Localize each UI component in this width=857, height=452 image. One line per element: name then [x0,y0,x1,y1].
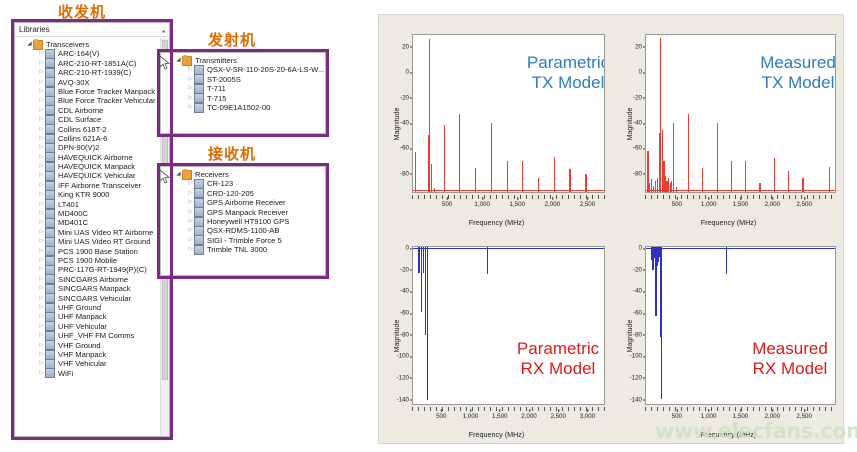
y-axis-ticks: 0-20-40-60-80-100-120-140 [623,246,645,405]
chevron-right-icon[interactable]: ▷ [38,125,45,134]
tree-item[interactable]: ▷UHF Vehicular [15,322,160,331]
tree-root-receivers[interactable]: ◢Receivers [161,170,325,179]
tree-item[interactable]: ▷ARC-210-RT-1939(C) [15,68,160,77]
chevron-down-icon[interactable]: ◢ [26,40,33,49]
libraries-tree-scroll-viewport: ◢Transceivers▷ARC-164(V)▷ARC-210-RT-1851… [15,38,160,436]
y-tick-label: 0 [406,69,409,76]
folder-icon [182,56,192,66]
plot-area: Parametric TX Model [412,34,605,193]
y-tick-label: -40 [400,288,409,295]
chevron-right-icon[interactable]: ▷ [38,312,45,321]
spectral-line [774,158,775,192]
y-tick-label: -80 [400,331,409,338]
chevron-right-icon[interactable]: ▷ [38,322,45,331]
chevron-right-icon[interactable]: ▷ [38,369,45,378]
spectral-line [459,114,460,192]
y-axis-ticks: 200-20-40-60-80 [623,34,645,193]
spectral-line [429,39,430,192]
device-icon [45,218,55,228]
receivers-panel: ◢Receivers▷CR-123▷CRD-120-205▷GPS Airbor… [160,166,326,276]
tree-item-label: PCS 1900 Base Station [58,247,138,256]
tree-item[interactable]: ▷PRC-117G-RT-1949(P)(C) [15,265,160,274]
spectral-line [491,123,492,192]
tree-item[interactable]: ▷PCS 1900 Mobile [15,256,160,265]
tree-item[interactable]: ▷HAVEQUICK Manpack [15,162,160,171]
spectral-line [661,247,662,399]
tree-item[interactable]: ▷WiFi [15,369,160,378]
tree-item[interactable]: ▷Trimble TNL 3000 [161,245,325,254]
tree-item[interactable]: ▷King KTR 9000 [15,190,160,199]
chevron-right-icon[interactable]: ▷ [38,134,45,143]
tree-item[interactable]: ▷SIGI - Trimble Force 5 [161,236,325,245]
spectral-line [829,167,830,192]
device-icon [45,321,55,331]
tree-item-label: CDL Surface [58,115,101,124]
y-tick-label: -60 [400,310,409,317]
tree-root-label: Transmitters [195,56,237,65]
spectral-line [759,183,760,192]
x-tick-label: 1,000 [701,201,716,208]
chevron-right-icon[interactable]: ▷ [38,247,45,256]
tree-item-label: UHF Manpack [58,312,107,321]
spectral-line [427,247,428,400]
chevron-right-icon[interactable]: ▷ [38,265,45,274]
chevron-right-icon[interactable]: ▷ [187,226,194,235]
tree-item-label: GPS Airborne Receiver [207,198,286,207]
spectral-line [507,161,508,192]
device-icon [194,245,204,255]
tree-item-label: Collins 618T-2 [58,125,107,134]
spectral-line [538,178,539,192]
device-icon [45,152,55,162]
chevron-right-icon[interactable]: ▷ [38,200,45,209]
x-tick-label: 1,000 [474,201,489,208]
chevron-right-icon[interactable]: ▷ [187,75,194,84]
baseline [413,248,604,249]
x-tick-label: 500 [442,201,452,208]
chart-measured-rx: Magnitude0-20-40-60-80-100-120-140Measur… [613,228,844,443]
chevron-right-icon[interactable]: ▷ [38,350,45,359]
chevron-right-icon[interactable]: ▷ [38,190,45,199]
device-icon [194,207,204,217]
tree-item[interactable]: ▷CRD-120-205 [161,189,325,198]
chevron-right-icon[interactable]: ▷ [38,256,45,265]
tree-item-label: CDL Airborne [58,106,103,115]
device-icon [45,124,55,134]
spectral-line [522,161,523,192]
y-tick-label: -60 [633,145,642,152]
libraries-window: Libraries ▪ ◢Transceivers▷ARC-164(V)▷ARC… [14,22,170,437]
x-tick-label: 1,500 [492,413,507,420]
spectral-line [788,171,789,192]
tree-item[interactable]: ▷HAVEQUICK Airborne [15,153,160,162]
tree-item[interactable]: ▷Collins 618T-2 [15,125,160,134]
chevron-right-icon[interactable]: ▷ [38,303,45,312]
chart-measured-tx: Magnitude200-20-40-60-80Measured TX Mode… [613,16,844,231]
x-tick-label: 2,000 [765,201,780,208]
tree-item-label: PRC-117G-RT-1949(P)(C) [58,265,147,274]
chevron-right-icon[interactable]: ▷ [187,236,194,245]
tree-item[interactable]: ▷T-715 [161,94,325,103]
chart-title: Measured TX Model [732,53,836,93]
chevron-right-icon[interactable]: ▷ [38,143,45,152]
x-axis-ticks: 5001,0001,5002,0002,5003,000 [412,409,605,423]
tree-item-label: Blue Force Tracker Manpack [58,87,155,96]
chevron-right-icon[interactable]: ▷ [38,96,45,105]
spectral-line [726,247,727,274]
chart-parametric-rx: Magnitude0-20-40-60-80-100-120-140Parame… [380,228,613,443]
chevron-right-icon[interactable]: ▷ [38,341,45,350]
y-tick-label: -20 [633,94,642,101]
tree-item[interactable]: ▷SINCGARS Manpack [15,284,160,293]
y-tick-label: -120 [630,374,642,381]
tree-item[interactable]: ▷ARC-210-RT-1851A(C) [15,59,160,68]
chevron-right-icon[interactable]: ▷ [38,78,45,87]
x-tick-label: 500 [672,201,682,208]
callout-label-transmitters: 发射机 [208,29,256,50]
chevron-right-icon[interactable]: ▷ [187,208,194,217]
plot-wrapper: Magnitude0-20-40-60-80-100-120-140Measur… [613,228,844,443]
tree-item[interactable]: ▷TC-09E1A1502-00 [161,103,325,112]
chevron-down-icon[interactable]: ◢ [175,170,182,179]
y-tick-label: 0 [639,69,642,76]
chevron-right-icon[interactable]: ▷ [187,103,194,112]
x-tick-label: 3,000 [580,413,595,420]
y-tick-label: -80 [633,170,642,177]
tree-item-label: UHF_VHF FM Comms [58,331,134,340]
tree-item[interactable]: ▷VHF Vehicular [15,359,160,368]
tree-item-label: King KTR 9000 [58,190,110,199]
spectral-line [731,161,732,192]
device-icon [45,105,55,115]
y-tick-label: -60 [400,145,409,152]
libraries-title: Libraries [19,25,50,34]
tree-item-label: SINCGARS Airborne [58,275,128,284]
x-tick-label: 500 [436,413,446,420]
spectral-line [475,168,476,192]
y-tick-label: -20 [400,266,409,273]
device-icon [45,58,55,68]
tree-item[interactable]: ▷VHF Ground [15,341,160,350]
spectral-line [745,161,746,192]
tree-item[interactable]: ▷Blue Force Tracker Manpack [15,87,160,96]
spectral-line [802,178,803,192]
y-tick-label: -100 [397,353,409,360]
transmitters-panel: ◢Transmitters▷QSX-V-SR-110-20S-20-6A-LS-… [160,52,326,134]
tree-item-label: UHF Vehicular [58,322,107,331]
spectral-line [434,188,435,192]
pin-icon[interactable]: ▪ [162,25,165,39]
x-tick-label: 2,500 [796,201,811,208]
x-axis-ticks: 5001,0001,5002,0002,500 [412,197,605,211]
chevron-right-icon[interactable]: ▷ [187,198,194,207]
y-tick-label: 0 [406,245,409,252]
tree-item-label: QSX-RDMS-1100-AB [207,226,279,235]
tree-item-label: PCS 1900 Mobile [58,256,117,265]
tree-item[interactable]: ▷CR-123 [161,179,325,188]
tree-item[interactable]: ▷T-711 [161,84,325,93]
spectral-line [688,114,689,192]
tree-item-label: SINCGARS Vehicular [58,294,131,303]
folder-icon [182,170,192,180]
x-axis-label: Frequency (MHz) [380,218,613,227]
tree-item[interactable]: ▷LT401 [15,200,160,209]
chevron-right-icon[interactable]: ▷ [38,237,45,246]
tree-root-label: Receivers [195,170,229,179]
tree-item[interactable]: ▷VHF Manpack [15,350,160,359]
spectral-line [702,168,703,192]
callout-label-transceivers: 收发机 [58,1,106,22]
spectral-line [487,247,488,274]
x-tick-label: 2,000 [545,201,560,208]
spectral-line [673,123,674,192]
tree-item-label: MD400C [58,209,88,218]
y-tick-label: -20 [400,94,409,101]
tree-root-transmitters[interactable]: ◢Transmitters [161,56,325,65]
device-icon [45,293,55,303]
tree-item-label: GPS Manpack Receiver [207,208,288,217]
spectral-line [676,187,677,192]
device-icon [45,246,55,256]
tree-item-label: QSX-V-SR-110-20S-20-6A-LS-W... [207,65,324,74]
chevron-right-icon[interactable]: ▷ [38,106,45,115]
y-tick-label: -140 [630,396,642,403]
y-tick-label: 20 [402,43,409,50]
tree-item-label: LT401 [58,200,79,209]
tree-item[interactable]: ▷ARC-164(V) [15,49,160,58]
tree-item-label: Mini UAS Video RT Airborne [58,228,153,237]
tree-item[interactable]: ▷IFF Airborne Transceiver [15,181,160,190]
tree-item-label: UHF Ground [58,303,101,312]
spectral-line [585,174,586,192]
tree-item-label: SINCGARS Manpack [58,284,131,293]
chevron-right-icon[interactable]: ▷ [187,94,194,103]
tree-item[interactable]: ▷SINCGARS Vehicular [15,294,160,303]
libraries-tree: ◢Transceivers▷ARC-164(V)▷ARC-210-RT-1851… [15,38,160,378]
tree-item-label: Blue Force Tracker Vehicular [58,96,156,105]
tree-item[interactable]: ▷DPN-90(V)2 [15,143,160,152]
chevron-right-icon[interactable]: ▷ [187,189,194,198]
tree-item[interactable]: ▷GPS Airborne Receiver [161,198,325,207]
tree-item-label: Honeywell HT9100 GPS [207,217,289,226]
device-icon [194,103,204,113]
tree-item[interactable]: ▷UHF_VHF FM Comms [15,331,160,340]
chevron-right-icon[interactable]: ▷ [38,218,45,227]
tree-item[interactable]: ▷QSX-RDMS-1100-AB [161,226,325,235]
tree-item[interactable]: ▷Collins 621A-6 [15,134,160,143]
tree-item-label: HAVEQUICK Vehicular [58,171,136,180]
tree-item-label: AVQ-30X [58,78,90,87]
tree-root-transceivers[interactable]: ◢Transceivers [15,40,160,49]
y-tick-label: -40 [633,288,642,295]
plot-wrapper: Magnitude0-20-40-60-80-100-120-140Parame… [380,228,613,443]
y-tick-label: -80 [400,170,409,177]
spectral-line [444,125,445,192]
x-tick-label: 2,500 [580,201,595,208]
device-icon [45,171,55,181]
y-tick-label: -40 [400,120,409,127]
baseline [646,248,835,249]
mouse-cursor-icon [160,170,171,184]
tree-item[interactable]: ▷MD400C [15,209,160,218]
tree-item-label: ARC-210-RT-1851A(C) [58,59,136,68]
tree-item[interactable]: ▷QSX-V-SR-110-20S-20-6A-LS-W... [161,65,325,74]
device-icon [45,199,55,209]
chevron-right-icon[interactable]: ▷ [38,59,45,68]
x-tick-label: 2,500 [550,413,565,420]
device-icon [194,235,204,245]
libraries-title-bar: Libraries ▪ [15,23,169,37]
spectral-line [554,157,555,192]
device-icon [194,188,204,198]
tree-item-label: ARC-210-RT-1939(C) [58,68,131,77]
chevron-right-icon[interactable]: ▷ [38,294,45,303]
tree-item[interactable]: ▷CDL Airborne [15,106,160,115]
y-tick-label: -140 [397,396,409,403]
x-tick-label: 1,000 [463,413,478,420]
chevron-right-icon[interactable]: ▷ [187,245,194,254]
chevron-right-icon[interactable]: ▷ [187,65,194,74]
tree-item-label: T-715 [207,94,226,103]
plot-area: Parametric RX Model [412,246,605,405]
tree-item[interactable]: ▷UHF Ground [15,303,160,312]
chevron-right-icon[interactable]: ▷ [38,228,45,237]
chart-title: Parametric RX Model [483,339,605,379]
chevron-right-icon[interactable]: ▷ [38,153,45,162]
folder-icon [33,40,43,50]
tree-item-label: VHF Manpack [58,350,106,359]
device-icon [45,274,55,284]
chevron-right-icon[interactable]: ▷ [38,162,45,171]
chevron-right-icon[interactable]: ▷ [38,87,45,96]
tree-item-label: VHF Ground [58,341,101,350]
device-icon [45,77,55,87]
tree-item-label: CR-123 [207,179,233,188]
x-tick-label: 1,500 [733,201,748,208]
x-axis-label: Frequency (MHz) [613,218,844,227]
receivers-tree: ◢Receivers▷CR-123▷CRD-120-205▷GPS Airbor… [161,167,325,255]
chevron-right-icon[interactable]: ▷ [38,181,45,190]
tree-item[interactable]: ▷Blue Force Tracker Vehicular [15,96,160,105]
y-axis-ticks: 0-20-40-60-80-100-120-140 [390,246,412,405]
y-tick-label: -120 [397,374,409,381]
tree-item[interactable]: ▷CDL Surface [15,115,160,124]
chevron-right-icon[interactable]: ▷ [38,331,45,340]
tree-item[interactable]: ▷SINCGARS Airborne [15,275,160,284]
tree-item-label: MD401C [58,218,88,227]
chevron-down-icon[interactable]: ◢ [175,56,182,65]
tree-item-label: HAVEQUICK Airborne [58,153,133,162]
baseline [413,190,604,191]
device-icon [45,340,55,350]
chart-title: Measured RX Model [714,339,836,379]
chevron-right-icon[interactable]: ▷ [187,179,194,188]
plot-area: Measured RX Model [645,246,836,405]
tree-item-label: WiFi [58,369,73,378]
device-icon [45,368,55,378]
chevron-right-icon[interactable]: ▷ [38,209,45,218]
tree-item[interactable]: ▷Mini UAS Video RT Ground [15,237,160,246]
chevron-right-icon[interactable]: ▷ [38,171,45,180]
tree-item[interactable]: ▷AVQ-30X [15,78,160,87]
plot-wrapper: Magnitude200-20-40-60-80Parametric TX Mo… [380,16,613,231]
tree-item[interactable]: ▷GPS Manpack Receiver [161,208,325,217]
screenshot-root: Libraries ▪ ◢Transceivers▷ARC-164(V)▷ARC… [0,0,857,452]
tree-item-label: ARC-164(V) [58,49,99,58]
tree-item[interactable]: ▷PCS 1900 Base Station [15,247,160,256]
chart-parametric-tx: Magnitude200-20-40-60-80Parametric TX Mo… [380,16,613,231]
chart-title: Parametric TX Model [503,53,605,93]
tree-item[interactable]: ▷MD401C [15,218,160,227]
x-axis-ticks: 5001,0001,5002,0002,500 [645,197,836,211]
tree-item[interactable]: ▷ST-2005S [161,75,325,84]
tree-item[interactable]: ▷Honeywell HT9100 GPS [161,217,325,226]
y-tick-label: 0 [639,245,642,252]
tree-item[interactable]: ▷UHF Manpack [15,312,160,321]
chevron-right-icon[interactable]: ▷ [187,217,194,226]
chevron-right-icon[interactable]: ▷ [38,359,45,368]
plot-area: Measured TX Model [645,34,836,193]
tree-item-label: Mini UAS Video RT Ground [58,237,150,246]
tree-item-label: SIGI - Trimble Force 5 [207,236,282,245]
device-icon [194,74,204,84]
chevron-right-icon[interactable]: ▷ [38,284,45,293]
mouse-cursor-icon [160,56,171,70]
y-tick-label: 20 [635,43,642,50]
spectral-line [717,123,718,192]
x-tick-label: 2,000 [521,413,536,420]
x-tick-label: 1,500 [510,201,525,208]
chevron-right-icon[interactable]: ▷ [38,68,45,77]
tree-item-label: CRD-120-205 [207,189,254,198]
spectral-line [569,169,570,192]
chevron-right-icon[interactable]: ▷ [187,84,194,93]
transmitters-tree: ◢Transmitters▷QSX-V-SR-110-20S-20-6A-LS-… [161,53,325,112]
y-tick-label: -60 [633,310,642,317]
tree-root-label: Transceivers [46,40,89,49]
x-axis-label: Frequency (MHz) [380,430,613,439]
y-tick-label: -20 [633,266,642,273]
spectral-line [421,247,422,312]
tree-item[interactable]: ▷HAVEQUICK Vehicular [15,171,160,180]
y-axis-ticks: 200-20-40-60-80 [390,34,412,193]
chevron-right-icon[interactable]: ▷ [38,49,45,58]
chevron-right-icon[interactable]: ▷ [38,275,45,284]
chevron-right-icon[interactable]: ▷ [38,115,45,124]
device-icon [194,93,204,103]
tree-item-label: T-711 [207,84,226,93]
y-tick-label: -80 [633,331,642,338]
callout-label-receivers: 接收机 [208,143,256,164]
tree-item-label: DPN-90(V)2 [58,143,99,152]
tree-item[interactable]: ▷Mini UAS Video RT Airborne [15,228,160,237]
y-tick-label: -40 [633,120,642,127]
tree-item-label: Trimble TNL 3000 [207,245,267,254]
tree-item-label: HAVEQUICK Manpack [58,162,135,171]
tree-item-label: ST-2005S [207,75,241,84]
spectral-line [431,164,432,192]
tree-item-label: Collins 621A-6 [58,134,107,143]
watermark-text: www.elecfans.com [655,418,855,444]
tree-item-label: TC-09E1A1502-00 [207,103,270,112]
tree-item-label: VHF Vehicular [58,359,107,368]
y-tick-label: -100 [630,353,642,360]
tree-item-label: IFF Airborne Transceiver [58,181,141,190]
spectral-line [415,152,416,192]
plot-wrapper: Magnitude200-20-40-60-80Measured TX Mode… [613,16,844,231]
